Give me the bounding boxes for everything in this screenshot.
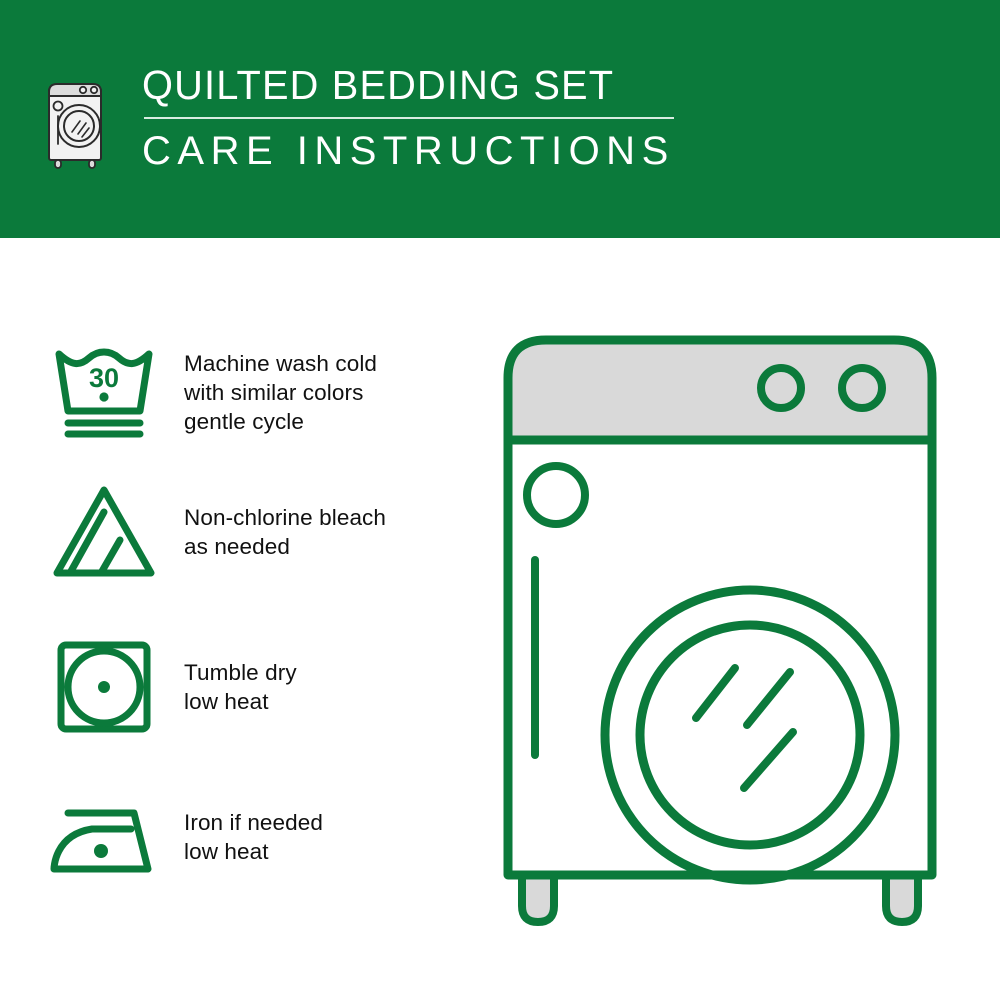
care-item-bleach: Non-chlorine bleach as needed [48, 478, 468, 586]
care-item-text: Tumble dry low heat [184, 658, 297, 716]
front-load-washing-machine-illustration [480, 320, 980, 950]
care-item-tumble-dry: Tumble dry low heat [48, 633, 468, 741]
care-instruction-list: 30 Machine wash cold with similar colors… [0, 238, 480, 1000]
care-item-text: Non-chlorine bleach as needed [184, 503, 386, 561]
care-item-text: Iron if needed low heat [184, 808, 323, 866]
iron-low-heat-icon [48, 783, 160, 891]
washing-machine-icon [44, 68, 114, 173]
care-item-iron: Iron if needed low heat [48, 783, 468, 891]
care-label-page: QUILTED BEDDING SET CARE INSTRUCTIONS 30… [0, 0, 1000, 1000]
care-item-line-1: Machine wash cold [184, 349, 377, 378]
header-title-block: QUILTED BEDDING SET CARE INSTRUCTIONS [142, 62, 675, 173]
care-item-line-2: as needed [184, 532, 386, 561]
title-divider [144, 117, 674, 119]
machine-control-panel [508, 340, 932, 440]
bleach-triangle-non-chlorine-icon [48, 478, 160, 586]
machine-legs [522, 875, 918, 922]
care-item-line-1: Non-chlorine bleach [184, 503, 386, 532]
wash-temperature-label: 30 [89, 363, 119, 393]
care-item-machine-wash: 30 Machine wash cold with similar colors… [48, 338, 468, 446]
care-item-line-2: low heat [184, 837, 323, 866]
header-band: QUILTED BEDDING SET CARE INSTRUCTIONS [0, 0, 1000, 238]
care-item-line-2: low heat [184, 687, 297, 716]
page-subtitle: CARE INSTRUCTIONS [142, 129, 675, 173]
page-title: QUILTED BEDDING SET [142, 62, 659, 108]
tumble-dry-low-heat-icon [48, 633, 160, 741]
care-item-line-1: Iron if needed [184, 808, 323, 837]
care-item-line-1: Tumble dry [184, 658, 297, 687]
care-item-line-2: with similar colors [184, 378, 377, 407]
wash-tub-30-gentle-icon: 30 [48, 338, 160, 446]
care-item-text: Machine wash cold with similar colors ge… [184, 349, 377, 436]
care-item-line-3: gentle cycle [184, 407, 377, 436]
header-content: QUILTED BEDDING SET CARE INSTRUCTIONS [44, 62, 675, 173]
